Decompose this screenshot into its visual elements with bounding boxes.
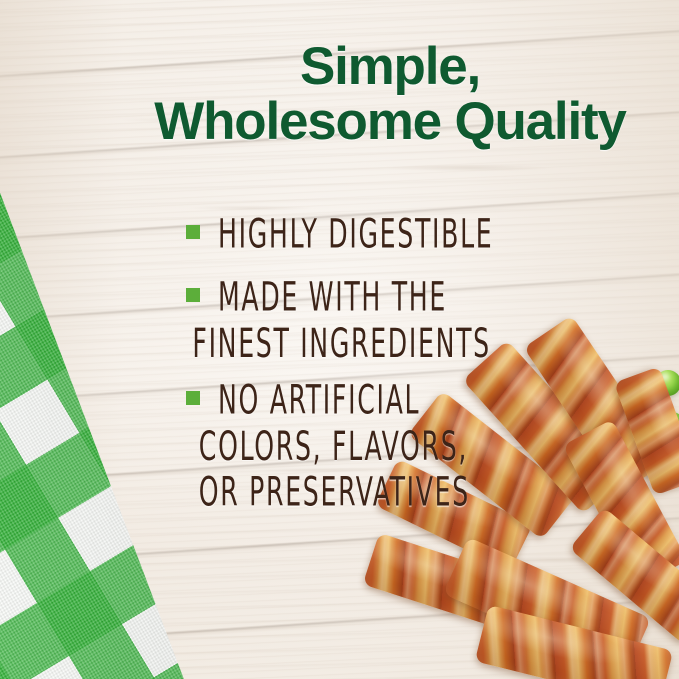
list-item-line: OR PRESERVATIVES <box>199 470 569 516</box>
product-banner: Simple, Wholesome Quality HIGHLY DIGESTI… <box>0 0 679 679</box>
green-square-icon <box>186 225 200 239</box>
list-item-line: COLORS, FLAVORS, <box>199 424 569 470</box>
list-item-label: HIGHLY DIGESTIBLE <box>218 212 568 258</box>
list-item: MADE WITH THE FINEST INGREDIENTS <box>186 275 656 356</box>
list-item-line: MADE WITH THE <box>218 275 568 321</box>
list-item-line: HIGHLY DIGESTIBLE <box>218 212 568 258</box>
page-title: Simple, Wholesome Quality <box>110 40 670 149</box>
feature-list: HIGHLY DIGESTIBLE MADE WITH THE FINEST I… <box>186 212 656 522</box>
list-item: HIGHLY DIGESTIBLE <box>186 212 656 253</box>
green-square-icon <box>186 391 200 405</box>
list-item-line: FINEST INGREDIENTS <box>192 321 568 367</box>
green-square-icon <box>186 288 200 302</box>
headline-line-2: Wholesome Quality <box>110 95 670 150</box>
headline-line-1: Simple, <box>300 37 480 96</box>
list-item-line: NO ARTIFICIAL <box>218 378 568 424</box>
list-item-label: NO ARTIFICIAL COLORS, FLAVORS, OR PRESER… <box>218 378 568 517</box>
list-item: NO ARTIFICIAL COLORS, FLAVORS, OR PRESER… <box>186 378 656 500</box>
list-item-label: MADE WITH THE FINEST INGREDIENTS <box>218 275 568 368</box>
